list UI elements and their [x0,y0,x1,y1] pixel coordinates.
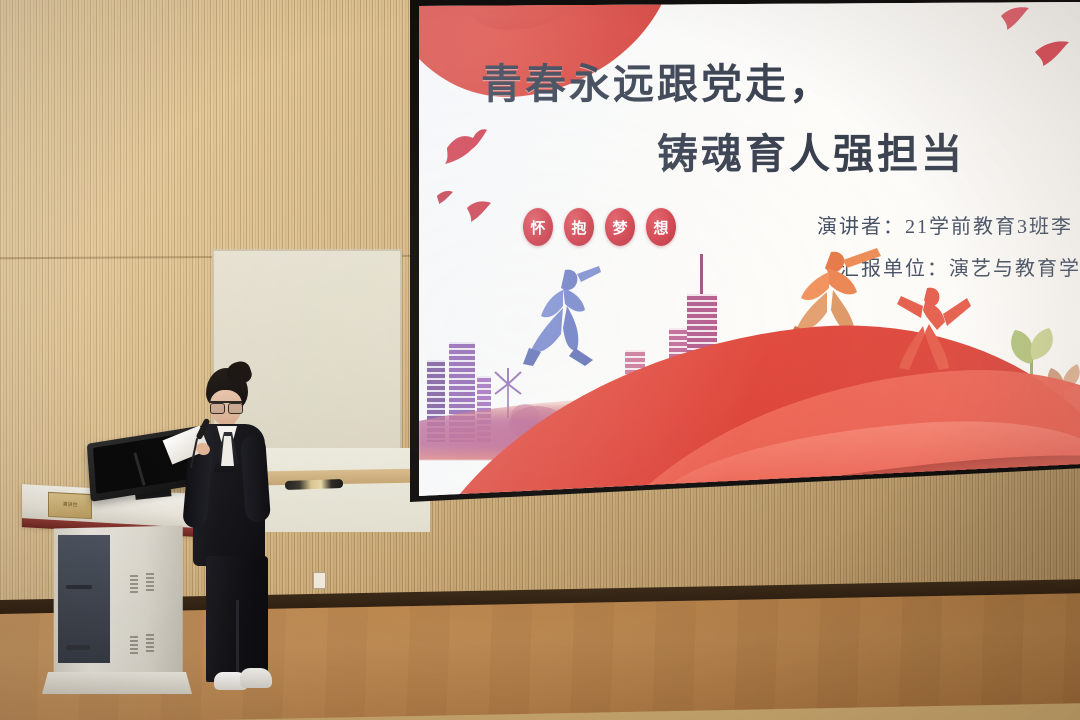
photo-scene: 青春永远跟党走， 铸魂育人强担当 怀 抱 梦 想 演讲者：21学前教育3班李 汇… [0,0,1080,720]
flying-dove-icon [1033,38,1073,68]
lectern-vent [130,636,138,654]
slide-headline: 青春永远跟党走， 铸魂育人强担当 [477,50,1037,180]
flying-dove-icon [999,4,1033,32]
speaker-shoe-right [240,668,272,688]
slogan-badge: 想 [646,208,676,246]
lectern-base [42,672,192,694]
lectern-door-vent [66,645,90,650]
lectern-vent [130,575,138,593]
slogan-badge: 梦 [605,208,635,246]
eyeglasses-icon [209,401,242,412]
slide-content: 青春永远跟党走， 铸魂育人强担当 怀 抱 梦 想 演讲者：21学前教育3班李 汇… [419,2,1080,504]
slogan-badge: 抱 [564,208,594,246]
wall-power-outlet [313,572,326,589]
flying-dove-icon [465,198,495,224]
red-silhouette-figure-icon [893,286,971,372]
headline-line-1: 青春永远跟党走， [477,50,1037,110]
slogan-badges: 怀 抱 梦 想 [523,208,676,246]
lectern-nameplate-text: 演讲台 [62,502,77,508]
lectern-vent [146,634,154,652]
eyeglass-lens [228,403,243,414]
slogan-badge: 怀 [523,208,553,246]
headline-line-2: 铸魂育人强担当 [477,120,1037,180]
lectern-vent [146,573,154,591]
lectern-door-handle[interactable] [66,585,92,589]
trouser-seam [236,600,239,682]
tower-spire-icon [700,254,703,294]
presentation-screen[interactable]: 青春永远跟党走， 铸魂育人强担当 怀 抱 梦 想 演讲者：21学前教育3班李 汇… [419,2,1080,504]
flying-dove-icon [435,188,457,206]
eyeglass-lens [210,403,225,414]
wall-inset-panel [245,448,430,532]
lectern-nameplate: 演讲台 [48,492,92,519]
lectern-equipment-door[interactable] [58,535,110,663]
leaping-figure-blue-icon [523,264,609,374]
credit-speaker: 演讲者：21学前教育3班李 [817,210,1080,239]
